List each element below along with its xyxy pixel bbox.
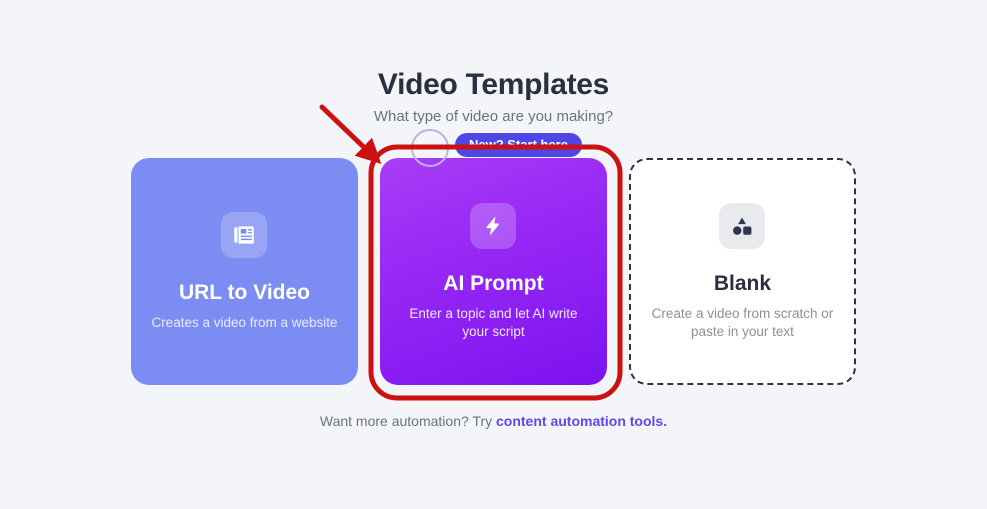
template-card-blank[interactable]: Blank Create a video from scratch or pas… [629, 158, 856, 385]
card-description: Enter a topic and let AI write your scri… [396, 305, 591, 341]
video-templates-page: Video Templates What type of video are y… [0, 0, 987, 509]
footer-prefix-text: Want more automation? Try [320, 413, 496, 429]
start-here-badge[interactable]: New? Start here [455, 133, 582, 157]
page-subtitle: What type of video are you making? [0, 107, 987, 127]
card-description: Create a video from scratch or paste in … [647, 305, 838, 341]
card-title: AI Prompt [443, 271, 543, 296]
lightning-bolt-icon [470, 203, 516, 249]
content-automation-tools-link[interactable]: content automation tools. [496, 413, 667, 429]
newspaper-icon [221, 212, 267, 258]
card-title: Blank [714, 271, 771, 296]
template-card-url-to-video[interactable]: URL to Video Creates a video from a webs… [131, 158, 358, 385]
page-title: Video Templates [0, 66, 987, 104]
template-card-ai-prompt[interactable]: AI Prompt Enter a topic and let AI write… [380, 158, 607, 385]
annotation-circle-outline [411, 129, 449, 167]
footer-note: Want more automation? Try content automa… [0, 412, 987, 431]
card-title: URL to Video [179, 280, 310, 305]
shapes-icon [719, 203, 765, 249]
card-description: Creates a video from a website [151, 314, 337, 332]
template-card-list: URL to Video Creates a video from a webs… [131, 158, 856, 385]
